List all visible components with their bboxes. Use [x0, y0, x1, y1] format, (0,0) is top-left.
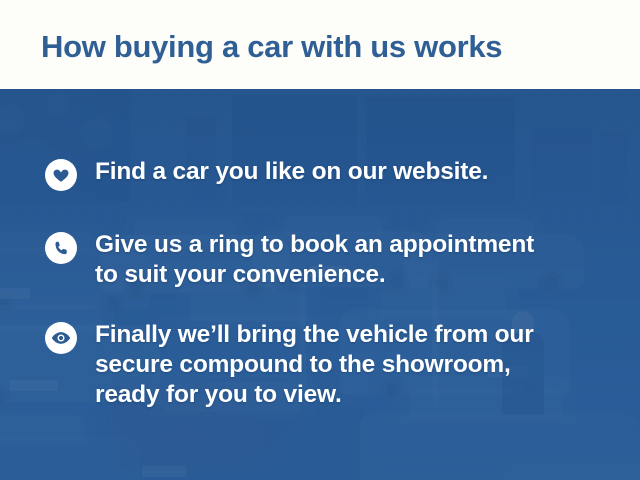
step-text-3: Finally we’ll bring the vehicle from our… — [95, 320, 534, 410]
eye-icon — [45, 322, 77, 354]
promo-slide: How buying a car with us works Find a ca… — [0, 0, 640, 480]
step-item-2: Give us a ring to book an appointment to… — [45, 230, 534, 290]
header-band: How buying a car with us works — [0, 0, 640, 89]
step-item-1: Find a car you like on our website. — [45, 157, 488, 191]
page-title: How buying a car with us works — [0, 31, 502, 62]
steps-list: Find a car you like on our website. Give… — [0, 89, 640, 480]
step-text-2: Give us a ring to book an appointment to… — [95, 230, 534, 290]
step-item-3: Finally we’ll bring the vehicle from our… — [45, 320, 534, 410]
phone-icon — [45, 232, 77, 264]
heart-icon — [45, 159, 77, 191]
step-text-1: Find a car you like on our website. — [95, 157, 488, 187]
